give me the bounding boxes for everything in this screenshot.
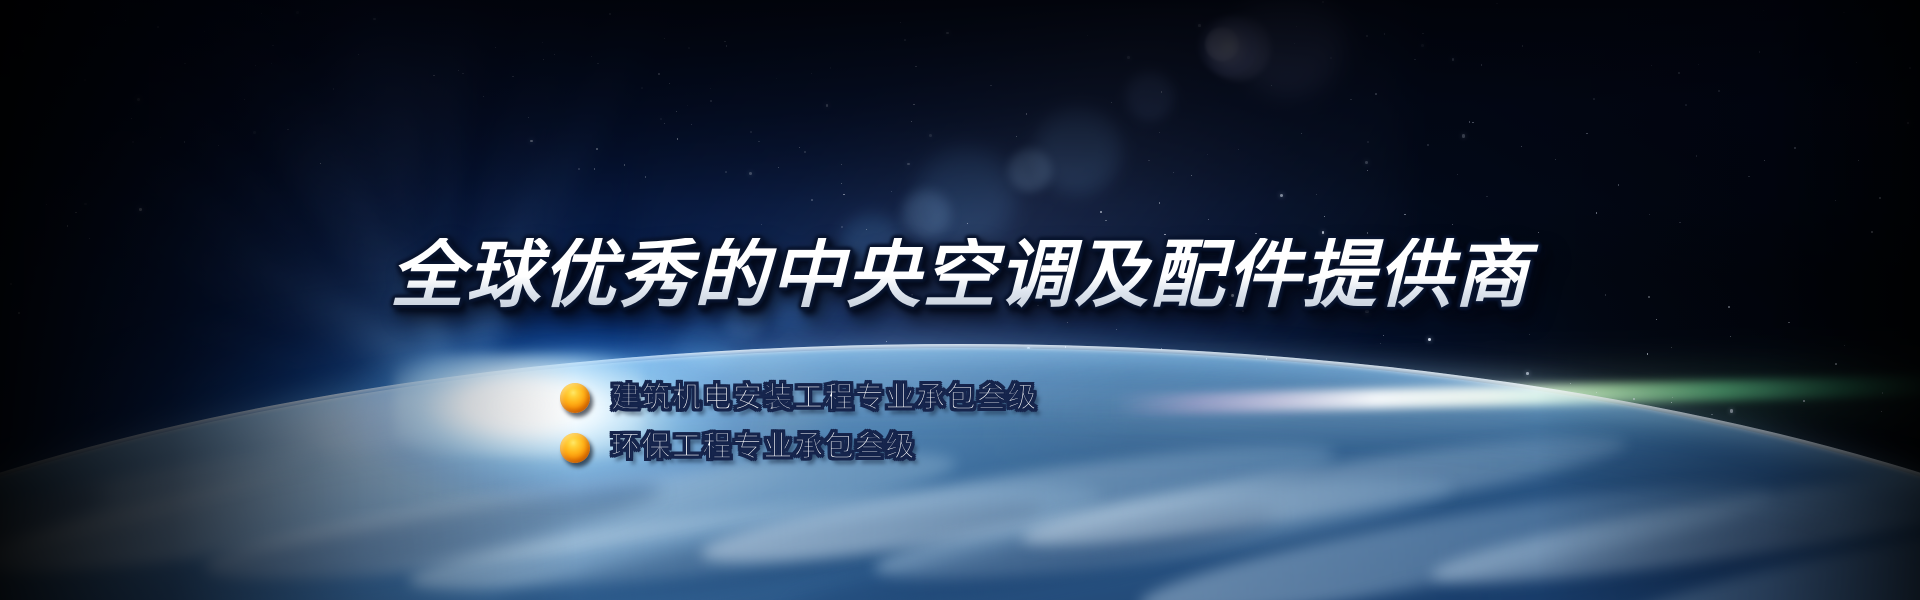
list-item: 建筑机电安装工程专业承包叁级 xyxy=(560,383,1038,413)
qualification-list: 建筑机电安装工程专业承包叁级 环保工程专业承包叁级 xyxy=(560,383,1038,463)
list-item-label: 环保工程专业承包叁级 xyxy=(611,432,916,462)
list-item: 环保工程专业承包叁级 xyxy=(560,432,1038,462)
list-item-label: 建筑机电安装工程专业承包叁级 xyxy=(611,383,1038,413)
page-title: 全球优秀的中央空调及配件提供商 xyxy=(0,238,1920,312)
banner-content: 全球优秀的中央空调及配件提供商 建筑机电安装工程专业承包叁级 环保工程专业承包叁… xyxy=(0,0,1920,600)
hero-banner: 全球优秀的中央空调及配件提供商 建筑机电安装工程专业承包叁级 环保工程专业承包叁… xyxy=(0,0,1920,600)
bullet-dot-icon xyxy=(560,383,590,413)
bullet-dot-icon xyxy=(560,433,590,463)
